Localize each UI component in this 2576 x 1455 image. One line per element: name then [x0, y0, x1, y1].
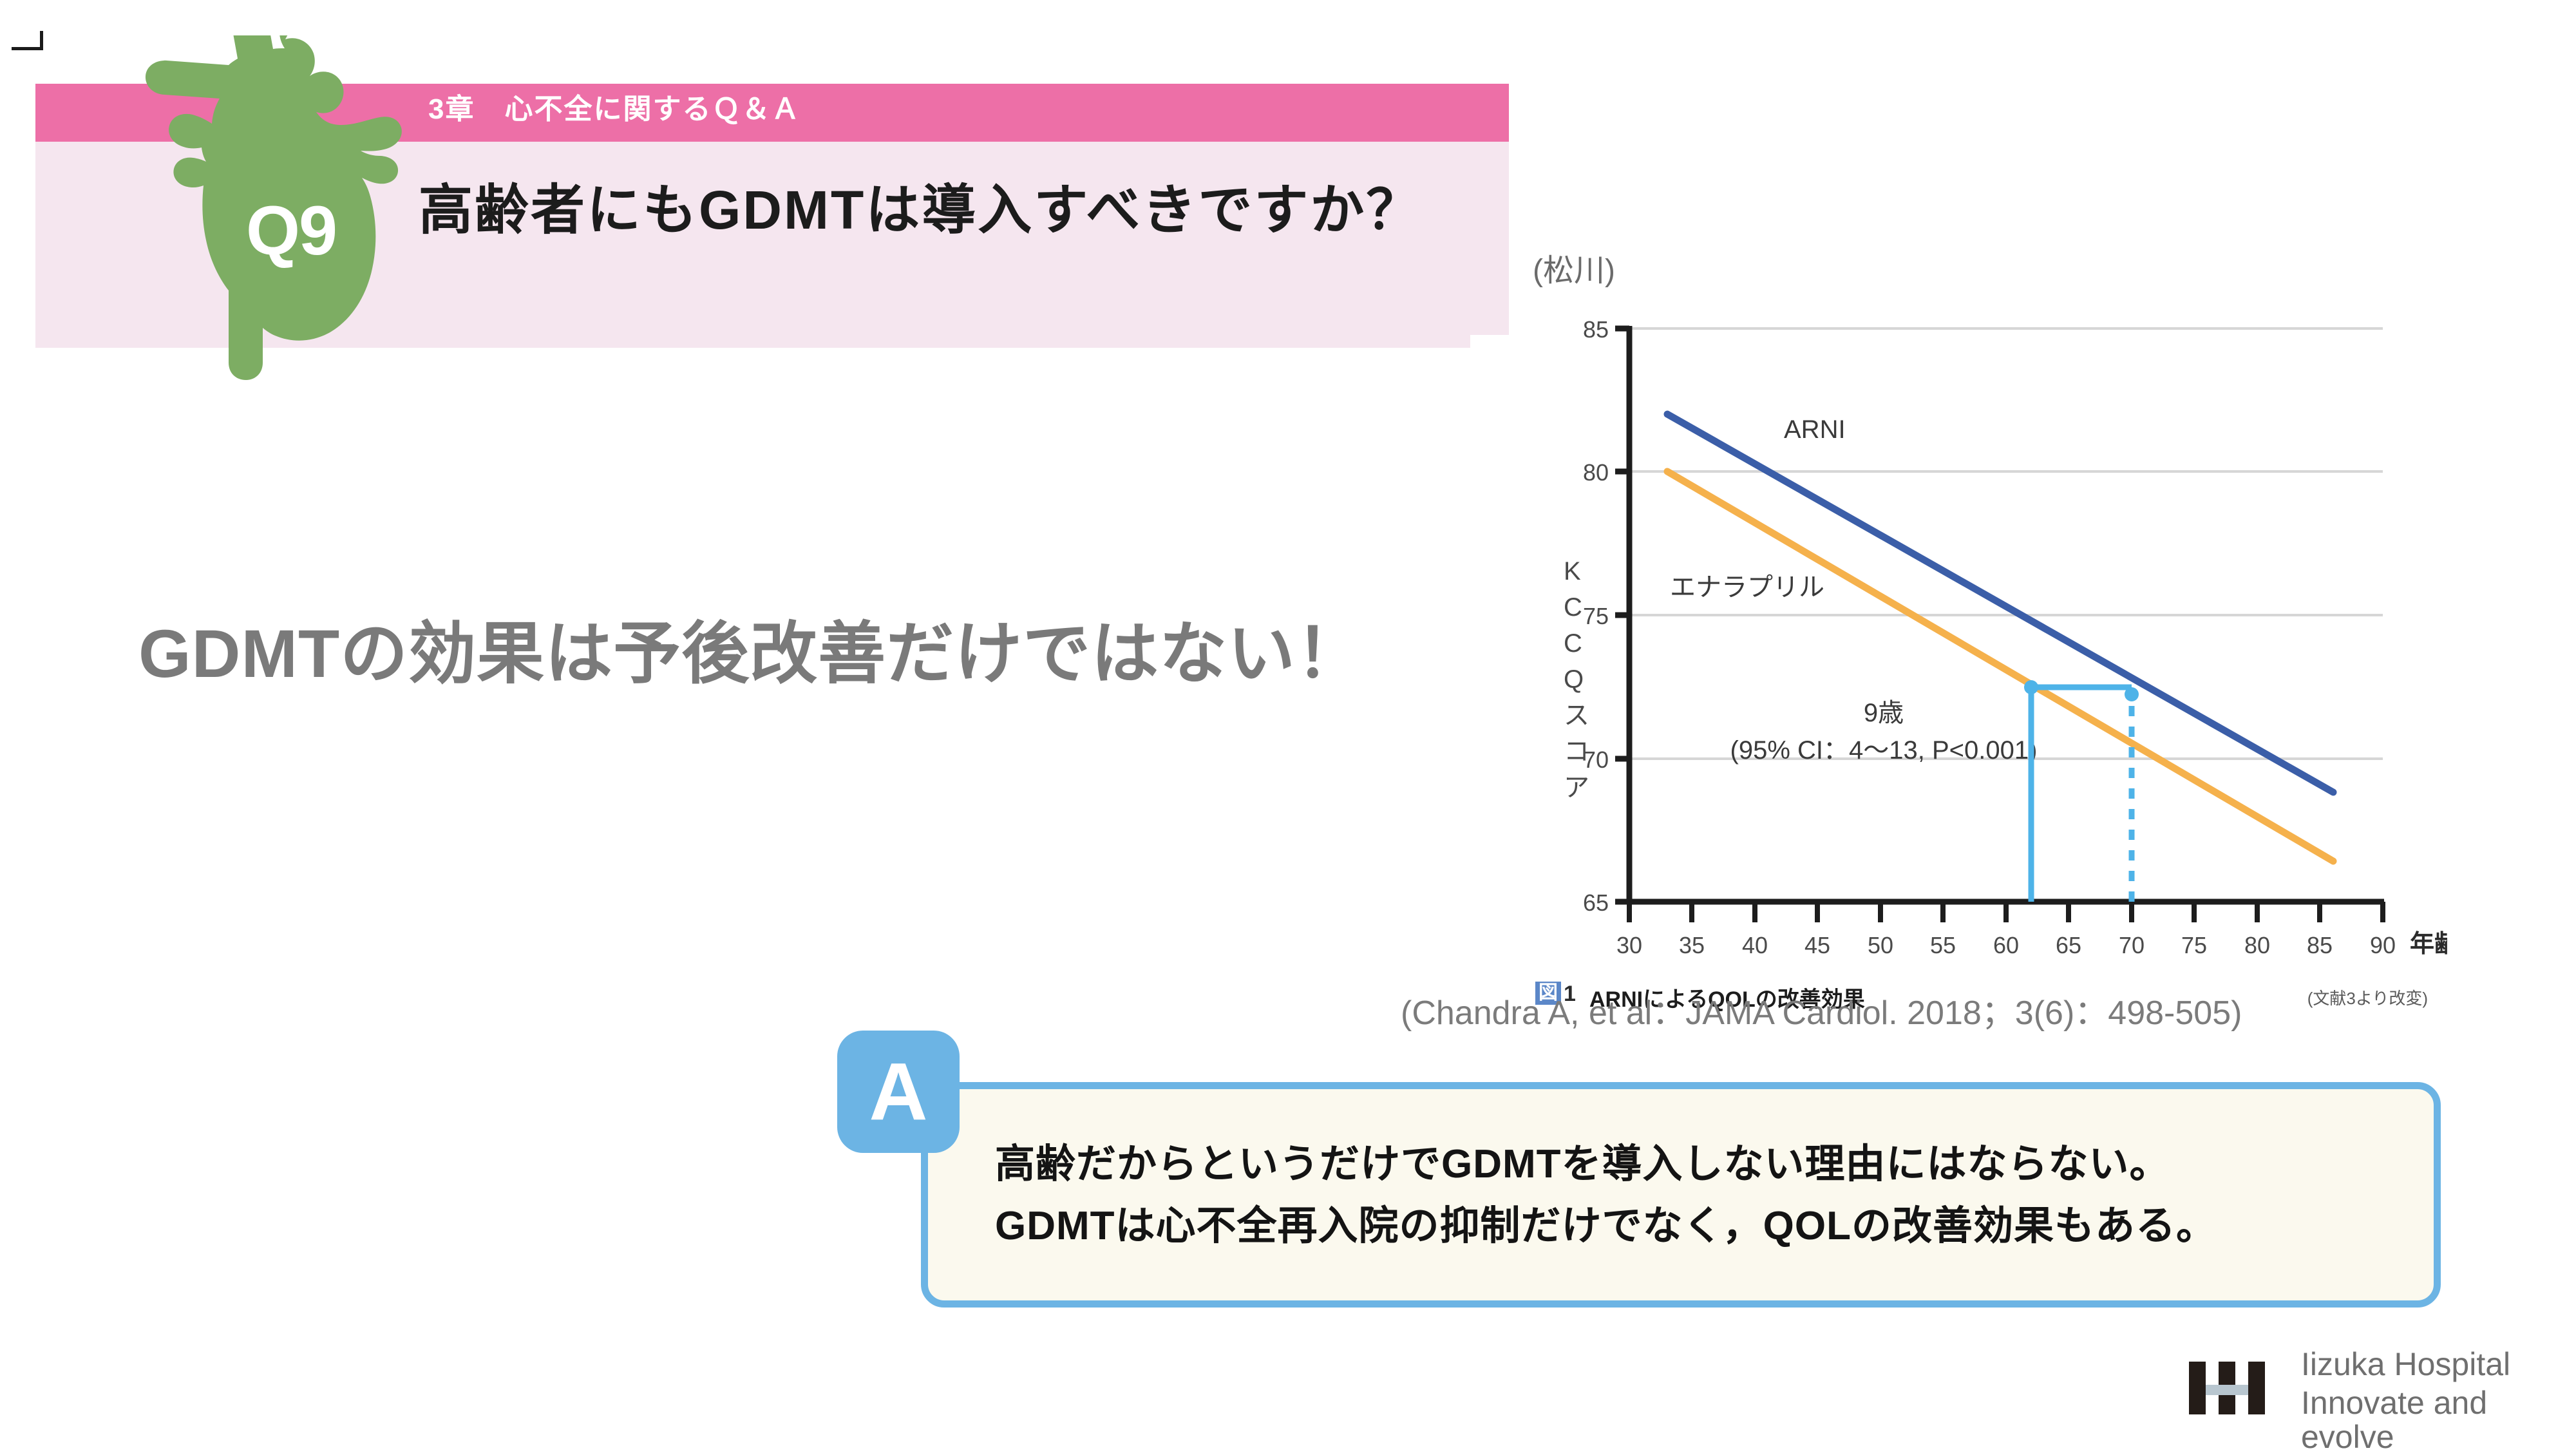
logo-tagline: Innovate and evolve — [2301, 1386, 2573, 1454]
svg-text:C: C — [1564, 629, 1582, 658]
svg-text:45: 45 — [1804, 932, 1830, 958]
svg-text:50: 50 — [1868, 932, 1893, 958]
svg-text:80: 80 — [1583, 459, 1609, 486]
answer-text: 高齢だからというだけでGDMTを導入しない理由にはならない。 GDMTは心不全再… — [995, 1134, 2412, 1257]
svg-text:75: 75 — [2181, 932, 2207, 958]
hospital-logo: Iizuka Hospital Innovate and evolve — [2186, 1346, 2573, 1443]
svg-text:(95% CI：4～13, P<0.001): (95% CI：4～13, P<0.001) — [1730, 736, 2038, 765]
question-number-badge: Q9 — [132, 35, 422, 396]
answer-line-2: GDMTは心不全再入院の抑制だけでなく，QOLの改善効果もある。 — [995, 1195, 2412, 1257]
citation-text: (Chandra A, et al：JAMA Cardiol. 2018；3(6… — [1401, 985, 2242, 1034]
figure-author-note: (松川) — [1533, 245, 1615, 290]
svg-text:C: C — [1564, 593, 1582, 622]
svg-text:75: 75 — [1583, 603, 1609, 629]
svg-text:ス: ス — [1564, 701, 1589, 730]
svg-text:40: 40 — [1742, 932, 1768, 958]
logo-name: Iizuka Hospital — [2301, 1347, 2510, 1382]
answer-line-1: 高齢だからというだけでGDMTを導入しない理由にはならない。 — [995, 1134, 2412, 1195]
answer-badge-letter: A — [869, 1051, 928, 1132]
crop-mark — [12, 31, 43, 50]
svg-text:90: 90 — [2370, 932, 2396, 958]
svg-text:30: 30 — [1616, 932, 1642, 958]
figure-block: (松川) 85 80 75 70 — [1533, 232, 2447, 1005]
svg-text:85: 85 — [1583, 316, 1609, 343]
svg-text:Q: Q — [1564, 665, 1584, 694]
slide-root: 3章 心不全に関するＱ＆Ａ 高齢者にもGDMTは導入すべきですか？ Q9 GDM… — [0, 0, 2576, 1449]
answer-badge: A — [837, 1031, 960, 1153]
svg-text:ARNI: ARNI — [1784, 415, 1846, 444]
svg-text:エナラプリル: エナラプリル — [1670, 573, 1824, 602]
figure-source: (文献3より改変) — [2307, 985, 2428, 1009]
svg-text:ア: ア — [1564, 774, 1589, 802]
svg-text:60: 60 — [1993, 932, 2019, 958]
svg-text:年齢: 年齢 — [2410, 931, 2447, 958]
question-title: 高齢者にもGDMTは導入すべきですか？ — [419, 180, 1422, 240]
question-number-text: Q9 — [246, 190, 336, 271]
svg-text:65: 65 — [1583, 889, 1609, 916]
svg-text:9歳: 9歳 — [1864, 699, 1904, 727]
svg-text:K: K — [1564, 557, 1581, 585]
svg-text:85: 85 — [2307, 932, 2333, 958]
kccq-age-chart: 85 80 75 70 65 K C C Q ス コ ア — [1533, 303, 2447, 985]
svg-text:35: 35 — [1679, 932, 1705, 958]
svg-text:コ: コ — [1564, 737, 1589, 766]
page-headline: GDMTの効果は予後改善だけではない！ — [138, 599, 1364, 697]
chapter-label: 3章 心不全に関するＱ＆Ａ — [428, 95, 800, 124]
svg-text:80: 80 — [2244, 932, 2270, 958]
svg-text:55: 55 — [1930, 932, 1956, 958]
svg-text:70: 70 — [2119, 932, 2145, 958]
svg-text:65: 65 — [2056, 932, 2081, 958]
ih-monogram-icon — [2186, 1362, 2283, 1414]
